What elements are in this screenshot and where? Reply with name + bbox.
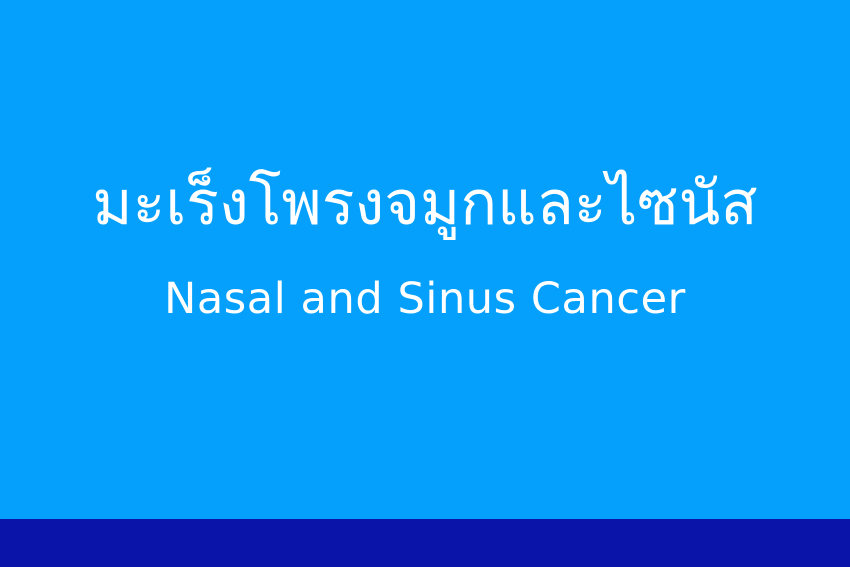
- page-subtitle-english: Nasal and Sinus Cancer: [164, 277, 686, 322]
- title-stack: มะเร็งโพรงจมูกและไซนัส Nasal and Sinus C…: [0, 173, 850, 322]
- banner-content-area: มะเร็งโพรงจมูกและไซนัส Nasal and Sinus C…: [0, 0, 850, 519]
- banner-card: มะเร็งโพรงจมูกและไซนัส Nasal and Sinus C…: [0, 0, 850, 567]
- page-title-thai: มะเร็งโพรงจมูกและไซนัส: [92, 173, 757, 235]
- footer-accent-bar: [0, 519, 850, 567]
